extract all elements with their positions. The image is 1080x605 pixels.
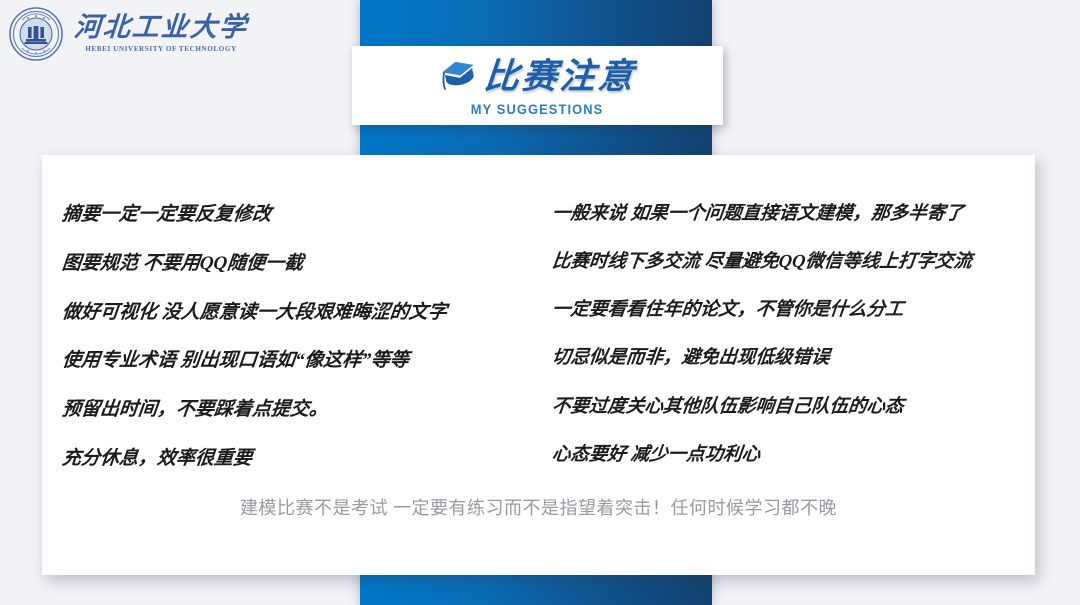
list-item: 摘要一定一定要反复修改 bbox=[61, 203, 543, 227]
list-item: 比赛时线下多交流 尽量避免QQ微信等线上打字交流 bbox=[551, 251, 1036, 274]
university-brand: 河北工业大学 HEBEI UNIVERSITY OF TECHNOLOGY bbox=[8, 6, 248, 62]
page-title: 比赛注意 bbox=[483, 59, 638, 94]
footer-note: 建模比赛不是考试 一定要有练习而不是指望着突击！任何时候学习都不晚 bbox=[42, 494, 1035, 520]
list-item: 一般来说 如果一个问题直接语文建模，那多半寄了 bbox=[551, 203, 1036, 226]
university-name-en: HEBEI UNIVERSITY OF TECHNOLOGY bbox=[85, 46, 236, 53]
university-name-cn: 河北工业大学 bbox=[73, 14, 249, 41]
list-item: 心态要好 减少一点功利心 bbox=[551, 444, 1036, 467]
list-item: 充分休息，效率很重要 bbox=[61, 447, 543, 471]
list-item: 使用专业术语 别出现口语如“像这样”等等 bbox=[61, 349, 543, 373]
university-seal-icon bbox=[8, 6, 64, 62]
list-item: 预留出时间，不要踩着点提交。 bbox=[61, 398, 543, 422]
suggestions-card: 摘要一定一定要反复修改 图要规范 不要用QQ随便一截 做好可视化 没人愿意读一大… bbox=[42, 155, 1035, 575]
list-item: 不要过度关心其他队伍影响自己队伍的心态 bbox=[551, 396, 1036, 419]
university-name-block: 河北工业大学 HEBEI UNIVERSITY OF TECHNOLOGY bbox=[74, 14, 248, 53]
page-subtitle: MY SUGGESTIONS bbox=[471, 101, 604, 117]
slide-title-plaque: 比赛注意 MY SUGGESTIONS bbox=[352, 46, 723, 125]
list-item: 一定要看看住年的论文，不管你是什么分工 bbox=[551, 299, 1036, 322]
graduation-cap-icon bbox=[438, 56, 480, 92]
title-row: 比赛注意 bbox=[438, 56, 636, 96]
list-item: 做好可视化 没人愿意读一大段艰难晦涩的文字 bbox=[61, 301, 543, 325]
list-item: 切忌似是而非，避免出现低级错误 bbox=[551, 347, 1036, 370]
list-item: 图要规范 不要用QQ随便一截 bbox=[61, 252, 543, 276]
